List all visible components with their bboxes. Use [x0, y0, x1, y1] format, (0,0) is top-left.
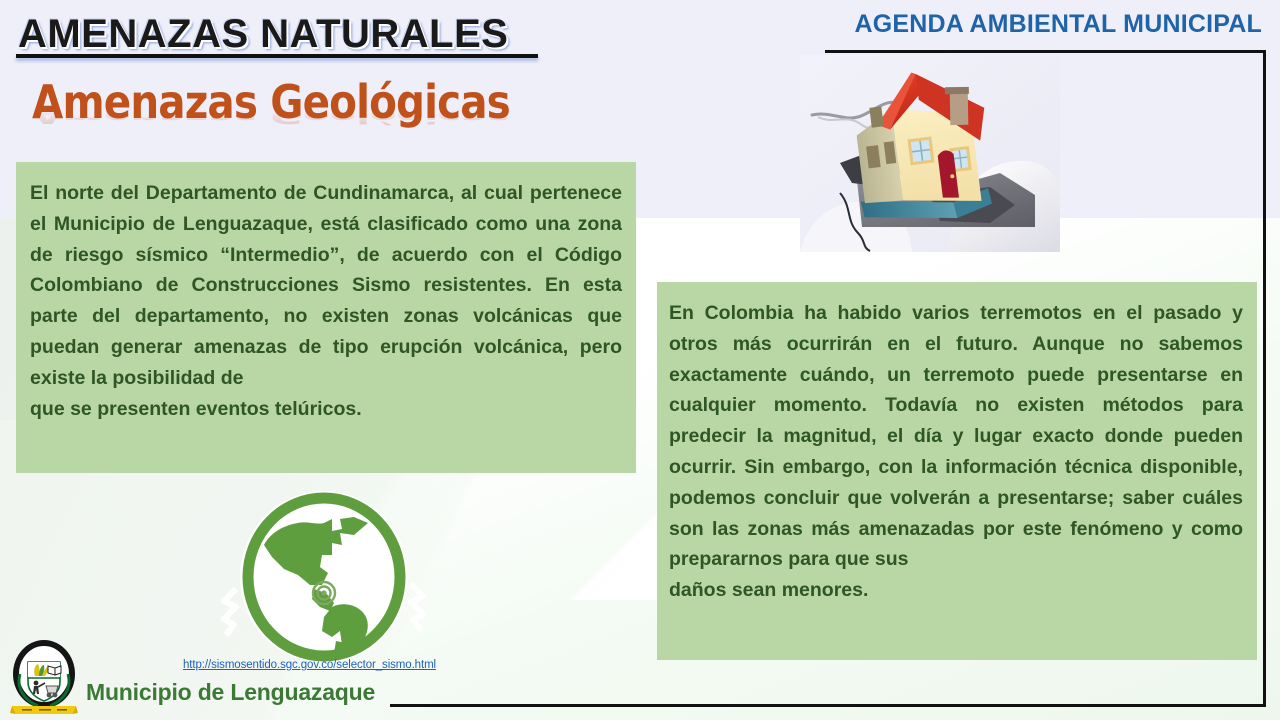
text-box-left-body: El norte del Departamento de Cundinamarc… [30, 178, 622, 394]
municipal-seal-icon [8, 638, 80, 716]
earthquake-house-illustration [800, 55, 1060, 252]
frame-bottom-line [390, 704, 1266, 707]
globe-icon [236, 489, 412, 665]
text-box-right: En Colombia ha habido varios terremotos … [657, 282, 1257, 660]
municipality-label: Municipio de Lenguazaque [86, 679, 375, 706]
page-title: AMENAZAS NATURALES [18, 12, 508, 57]
frame-top-line [825, 50, 1266, 53]
agenda-header-label: AGENDA AMBIENTAL MUNICIPAL [855, 10, 1263, 39]
text-box-right-lastline: daños sean menores. [669, 575, 1243, 606]
page-title-underline [16, 54, 538, 58]
vibration-mark-right-icon [403, 580, 429, 632]
frame-right-line [1263, 50, 1266, 707]
page-subtitle-reflection: Amenazas Geológicas [32, 104, 510, 128]
slide-canvas: AMENAZAS NATURALES Amenazas Geológicas A… [0, 0, 1280, 720]
text-box-right-body: En Colombia ha habido varios terremotos … [669, 298, 1243, 575]
sismosentido-url-link[interactable]: http://sismosentido.sgc.gov.co/selector_… [183, 659, 436, 671]
text-box-left-lastline: que se presenten eventos telúricos. [30, 394, 622, 425]
text-box-left: El norte del Departamento de Cundinamarc… [16, 162, 636, 473]
vibration-mark-left-icon [218, 585, 244, 637]
